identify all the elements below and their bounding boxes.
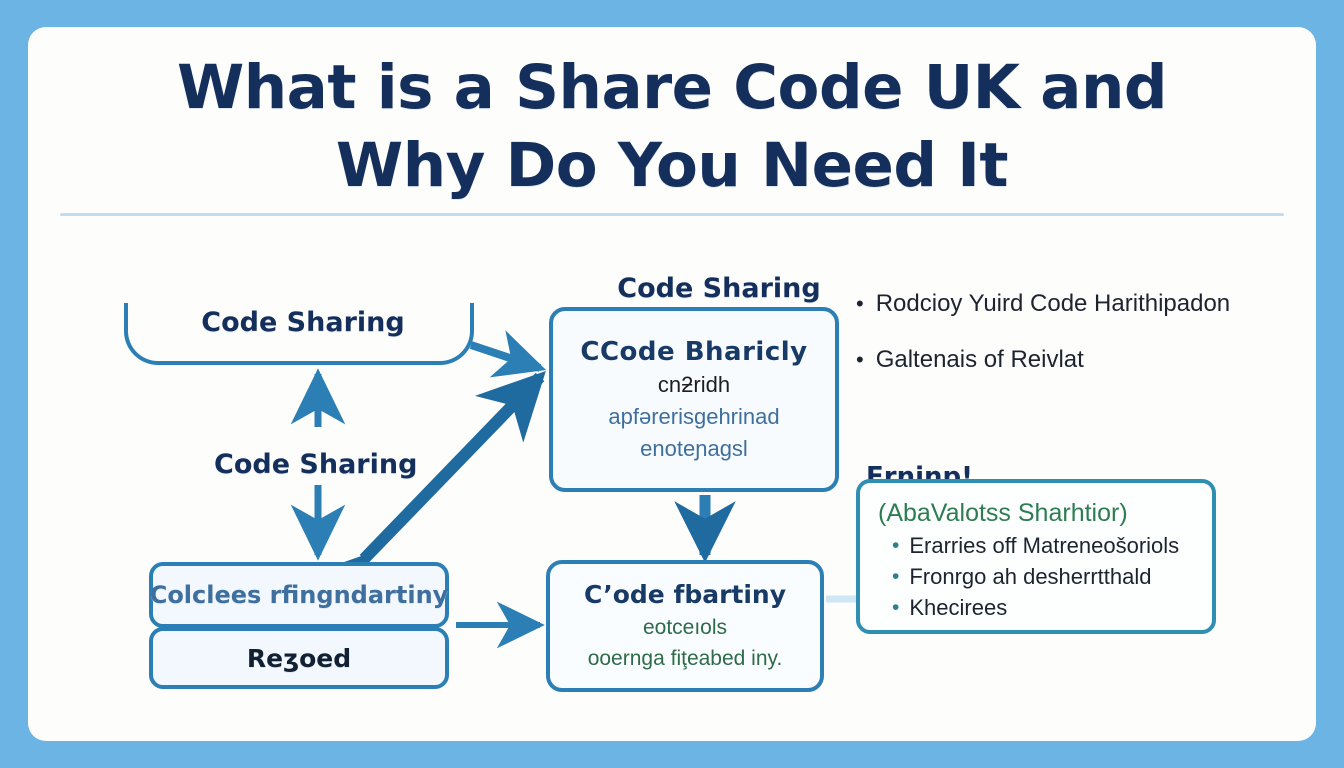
list-item: • Fronrgo ah desherrtthald: [878, 562, 1212, 591]
bullet-icon: •: [856, 289, 864, 319]
list-item: • Rodcioy Yuird Code Harithipadon: [856, 289, 1276, 319]
list-item: • Erarries off Matreneošoriols: [878, 531, 1212, 560]
node-example-box[interactable]: (AbaValotss Sharhtior) • Erarries off Ma…: [856, 479, 1216, 634]
bullet-text: Erarries off Matreneošoriols: [909, 531, 1179, 560]
center-box-line-2: cnƻridh: [567, 369, 821, 401]
bullet-icon: •: [892, 531, 899, 560]
node-pill-code-sharing[interactable]: Code Sharing: [124, 303, 474, 365]
arrow-pill-to-center: [471, 345, 540, 368]
node-center-box[interactable]: CCode Bharicly cnƻridh apfərerisgehrinad…: [549, 307, 839, 492]
heading-center-box: Code Sharing: [574, 273, 864, 304]
bottom-center-line-1: C’ode fbartiny: [550, 578, 820, 612]
pill-label: Code Sharing: [128, 307, 478, 338]
list-item: • Khecirees: [878, 593, 1212, 622]
bottom-center-line-2: eotceıols: [550, 612, 820, 643]
center-box-line-4: enoteɲagsl: [567, 433, 821, 465]
bullet-icon: •: [892, 593, 899, 622]
node-bottom-left-bottom[interactable]: Reʒoed: [149, 627, 449, 689]
bullet-text: Khecirees: [909, 593, 1007, 622]
bottom-left-bottom-label: Reʒoed: [247, 644, 351, 673]
example-box-heading: (AbaValotss Sharhtior): [878, 497, 1212, 529]
bullet-text: Galtenais of Reivlat: [876, 345, 1084, 375]
bottom-center-line-3: ooernga fiţeabed iny.: [550, 643, 820, 674]
diagram-canvas: Code Sharing Code Sharing Code Sharing C…: [28, 27, 1316, 741]
infographic-card: What is a Share Code UK and Why Do You N…: [28, 27, 1316, 741]
node-bottom-left-top[interactable]: Colclees rfingndartiny: [149, 562, 449, 628]
bottom-left-top-label: Colclees rfingndartiny: [150, 581, 449, 609]
center-box-line-1: CCode Bharicly: [567, 335, 821, 369]
right-bullet-list: • Rodcioy Yuird Code Harithipadon • Galt…: [856, 289, 1276, 401]
label-mid-left: Code Sharing: [214, 449, 417, 480]
infographic-frame: What is a Share Code UK and Why Do You N…: [0, 0, 1344, 768]
node-bottom-center-box[interactable]: C’ode fbartiny eotceıols ooernga fiţeabe…: [546, 560, 824, 692]
bullet-icon: •: [892, 562, 899, 591]
list-item: • Galtenais of Reivlat: [856, 345, 1276, 375]
bullet-icon: •: [856, 345, 864, 375]
bullet-text: Rodcioy Yuird Code Harithipadon: [876, 289, 1230, 319]
bullet-text: Fronrgo ah desherrtthald: [909, 562, 1151, 591]
center-box-line-3: apfərerisgehrinad: [567, 401, 821, 433]
